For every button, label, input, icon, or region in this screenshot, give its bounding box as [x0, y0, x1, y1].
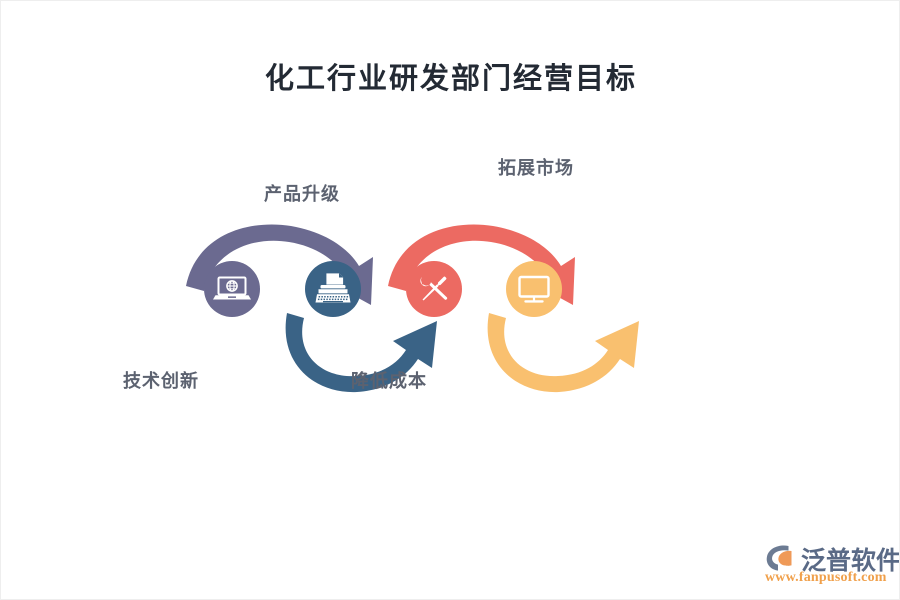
slide-canvas: 化工行业研发部门经营目标 — [0, 0, 900, 600]
logo-url: www.fanpusoft.com — [765, 570, 887, 586]
step-1-label: 技术创新 — [123, 367, 199, 393]
arrow-4-path — [488, 313, 639, 392]
arrow-4-orange — [488, 313, 639, 392]
step-3-label: 降低成本 — [351, 367, 427, 393]
step-2-circle — [305, 261, 361, 317]
step-2-node[interactable] — [305, 261, 361, 317]
brand-logo: 泛普软件 www.fanpusoft.com — [763, 539, 891, 591]
step-4-label: 拓展市场 — [498, 154, 574, 180]
step-2-label: 产品升级 — [264, 180, 340, 206]
step-1-node[interactable] — [204, 261, 260, 317]
step-4-circle — [506, 261, 562, 317]
step-3-node[interactable] — [406, 261, 462, 317]
fanpu-logo-mark-icon — [765, 543, 799, 573]
step-4-node[interactable] — [506, 261, 562, 317]
laptop-globe-icon — [213, 278, 251, 300]
page-title: 化工行业研发部门经营目标 — [1, 55, 900, 97]
